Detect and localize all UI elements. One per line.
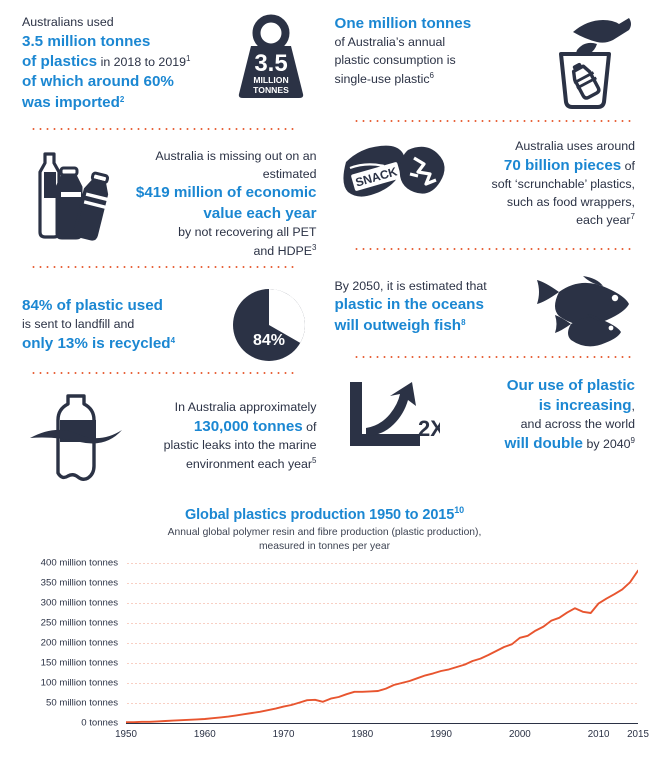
chart-x-tick-label: 2010 <box>588 729 610 740</box>
chart-y-tick-label: 100 million tonnes <box>41 677 118 688</box>
footnote-2: 2 <box>120 95 124 104</box>
line-of-plastics-tail: in 2018 to 2019 <box>97 55 186 69</box>
fact-use-will-double-text: Our use of plastic is increasing, and ac… <box>447 376 636 455</box>
weight-icon-value: 3.5 <box>254 50 287 77</box>
facts-grid: Australians used 3.5 million tonnes of p… <box>0 0 649 484</box>
line-of-plastics: of plastics in 2018 to 20191 <box>22 52 225 72</box>
line-of-which-60: of which around 60% <box>22 72 225 92</box>
footnote-8: 8 <box>461 318 465 327</box>
chart-y-tick-label: 150 million tonnes <box>41 657 118 668</box>
line-each-year-text: each year <box>576 213 630 227</box>
chart-subtitle-line-2: measured in tonnes per year <box>0 540 649 554</box>
line-by-2050: By 2050, it is estimated that <box>335 278 528 296</box>
two-fish-icon <box>527 264 635 350</box>
chart-subtitle: Annual global polymer resin and fibre pr… <box>0 526 649 554</box>
bottle-in-water-icon <box>22 390 130 482</box>
chart-x-tick-label: 1950 <box>115 729 137 740</box>
fact-economic-value-text: Australia is missing out on an estimated… <box>114 142 317 260</box>
line-soft-scrunchable: soft ‘scrunchable’ plastics, <box>453 176 636 194</box>
line-our-use-of-plastic: Our use of plastic <box>447 376 636 396</box>
plastic-bottles-icon-svg <box>25 148 111 246</box>
chart-x-tick-label: 2015 <box>627 729 649 740</box>
line-plastic-in-oceans: plastic in the oceans <box>335 295 528 315</box>
growth-arrow-icon-svg: 2X <box>342 378 440 452</box>
chart-series-line <box>126 563 638 723</box>
snack-wrapper-icon-svg: SNACK <box>338 134 450 220</box>
growth-arrow-label: 2X <box>418 416 440 441</box>
chart-y-tick-label: 300 million tonnes <box>41 597 118 608</box>
footnote-4: 4 <box>171 336 175 345</box>
line-food-wrappers: such as food wrappers, <box>453 194 636 212</box>
chart-x-tick-label: 2000 <box>509 729 531 740</box>
line-35-million-tonnes: 3.5 million tonnes <box>22 32 225 52</box>
fact-use-will-double: 2X Our use of plastic is increasing, and… <box>335 358 636 458</box>
line-70-billion-pieces: 70 billion pieces of <box>453 156 636 176</box>
line-of-australias-annual: of Australia’s annual <box>335 34 536 52</box>
pie-chart-value: 84% <box>252 332 284 349</box>
hand-dropping-rubbish-bin-icon <box>535 14 635 110</box>
chart-y-tick-label: 50 million tonnes <box>46 697 118 708</box>
plastic-bottles-icon <box>22 142 114 246</box>
line-70-billion-bold: 70 billion pieces <box>504 157 621 174</box>
fact-marine-leakage-text: In Australia approximately 130,000 tonne… <box>130 399 317 473</box>
line-environment-each-year: environment each year5 <box>130 455 317 474</box>
fact-scrunchable-text: Australia uses around 70 billion pieces … <box>453 134 636 230</box>
line-only-13-recycled-bold: only 13% is recycled <box>22 335 171 352</box>
line-is-increasing-bold: is increasing <box>539 397 632 414</box>
footnote-9: 9 <box>631 436 635 445</box>
chart-x-axis-line <box>126 723 638 725</box>
fact-outweigh-fish: By 2050, it is estimated that plastic in… <box>335 250 636 350</box>
footnote-7: 7 <box>631 212 635 221</box>
chart-line-path <box>126 570 638 722</box>
fact-economic-value: Australia is missing out on an estimated… <box>22 130 317 260</box>
fact-plastics-used: Australians used 3.5 million tonnes of p… <box>22 0 317 120</box>
line-of-plastics-bold: of plastics <box>22 53 97 70</box>
line-130000-tonnes-bold: 130,000 tonnes <box>194 418 303 435</box>
chart-y-tick-label: 0 tonnes <box>81 717 118 728</box>
bottle-in-water-icon-svg <box>24 390 128 482</box>
chart-y-axis-labels: 400 million tonnes350 million tonnes300 … <box>0 563 122 723</box>
line-is-increasing-tail: , <box>632 399 635 413</box>
footnote-10: 10 <box>454 505 464 515</box>
bin-icon-svg <box>539 14 631 110</box>
line-will-outweigh-fish-bold: will outweigh fish <box>335 317 462 334</box>
line-environment-text: environment each year <box>186 457 312 471</box>
line-sent-to-landfill: is sent to landfill and <box>22 316 221 334</box>
line-will-double: will double by 20409 <box>447 434 636 454</box>
chart-plot-area: 400 million tonnes350 million tonnes300 … <box>0 563 649 768</box>
line-84-percent-landfill: 84% of plastic used <box>22 296 221 316</box>
pie-chart-icon-svg: 84% <box>229 285 309 365</box>
facts-column-left: Australians used 3.5 million tonnes of p… <box>0 0 325 484</box>
line-across-the-world: and across the world <box>447 416 636 434</box>
global-plastics-production-chart: Global plastics production 1950 to 20151… <box>0 505 649 777</box>
line-australia-uses-around: Australia uses around <box>453 138 636 156</box>
line-value-each-year: value each year <box>114 204 317 224</box>
chart-y-tick-label: 200 million tonnes <box>41 637 118 648</box>
footnote-6: 6 <box>430 71 434 80</box>
line-70-billion-tail: of <box>621 159 635 173</box>
line-130000-tonnes-tail: of <box>303 420 317 434</box>
line-will-double-tail: by 2040 <box>583 437 631 451</box>
line-single-use-plastic-text: single-use plastic <box>335 72 430 86</box>
snack-wrapper-icon: SNACK <box>335 134 453 220</box>
line-only-13-recycled: only 13% is recycled4 <box>22 334 221 354</box>
pie-chart-icon: 84% <box>221 285 317 365</box>
line-and-hdpe-text: and HDPE <box>254 244 313 258</box>
fact-single-use: One million tonnes of Australia’s annual… <box>335 0 636 110</box>
line-will-outweigh-fish: will outweigh fish8 <box>335 316 528 336</box>
fact-outweigh-fish-text: By 2050, it is estimated that plastic in… <box>335 278 528 336</box>
line-130000-tonnes: 130,000 tonnes of <box>130 417 317 437</box>
chart-x-axis-labels: 19501960197019801990200020102015 <box>126 729 638 749</box>
two-fish-icon-svg <box>529 264 633 350</box>
chart-x-tick-label: 1970 <box>273 729 295 740</box>
fact-scrunchable-plastics: SNACK Australia uses around 70 billion p… <box>335 122 636 240</box>
growth-arrow-icon: 2X <box>335 378 447 452</box>
fact-landfill-recycled-text: 84% of plastic used is sent to landfill … <box>22 296 221 354</box>
chart-y-tick-label: 400 million tonnes <box>41 557 118 568</box>
line-419-million: $419 million of economic <box>114 183 317 203</box>
footnote-5: 5 <box>312 456 316 465</box>
line-australians-used: Australians used <box>22 14 225 32</box>
weight-icon: 3.5 MILLION TONNES <box>225 14 317 100</box>
line-was-imported-bold: was imported <box>22 94 120 111</box>
chart-x-tick-label: 1990 <box>430 729 452 740</box>
line-is-increasing: is increasing, <box>447 396 636 416</box>
chart-title-text: Global plastics production 1950 to 2015 <box>185 507 454 523</box>
footnote-1: 1 <box>186 54 190 63</box>
chart-subtitle-line-1: Annual global polymer resin and fibre pr… <box>0 526 649 540</box>
line-one-million-tonnes: One million tonnes <box>335 14 536 34</box>
weight-icon-svg: 3.5 MILLION TONNES <box>229 14 313 100</box>
chart-y-tick-label: 250 million tonnes <box>41 617 118 628</box>
weight-icon-unit-2: TONNES <box>253 85 289 95</box>
fact-marine-leakage: In Australia approximately 130,000 tonne… <box>22 374 317 484</box>
line-in-australia-approx: In Australia approximately <box>130 399 317 417</box>
footnote-3: 3 <box>312 243 316 252</box>
line-each-year-7: each year7 <box>453 211 636 230</box>
fact-landfill-recycled: 84% of plastic used is sent to landfill … <box>22 268 317 366</box>
chart-x-tick-label: 1980 <box>351 729 373 740</box>
facts-column-right: One million tonnes of Australia’s annual… <box>325 0 649 484</box>
fact-plastics-used-text: Australians used 3.5 million tonnes of p… <box>22 14 225 113</box>
line-plastic-consumption: plastic consumption is <box>335 52 536 70</box>
line-leaks-marine: plastic leaks into the marine <box>130 437 317 455</box>
line-will-double-bold: will double <box>505 435 583 452</box>
line-missing-out: Australia is missing out on an estimated <box>114 148 317 183</box>
line-not-recovering-pet: by not recovering all PET <box>114 224 317 242</box>
chart-y-tick-label: 350 million tonnes <box>41 577 118 588</box>
weight-icon-unit-1: MILLION <box>253 75 288 85</box>
chart-x-tick-label: 1960 <box>194 729 216 740</box>
line-was-imported: was imported2 <box>22 93 225 113</box>
fact-single-use-text: One million tonnes of Australia’s annual… <box>335 14 536 88</box>
chart-title: Global plastics production 1950 to 20151… <box>0 505 649 523</box>
line-and-hdpe: and HDPE3 <box>114 242 317 261</box>
plastics-infographic: Australians used 3.5 million tonnes of p… <box>0 0 649 484</box>
line-single-use-plastic: single-use plastic6 <box>335 70 536 89</box>
